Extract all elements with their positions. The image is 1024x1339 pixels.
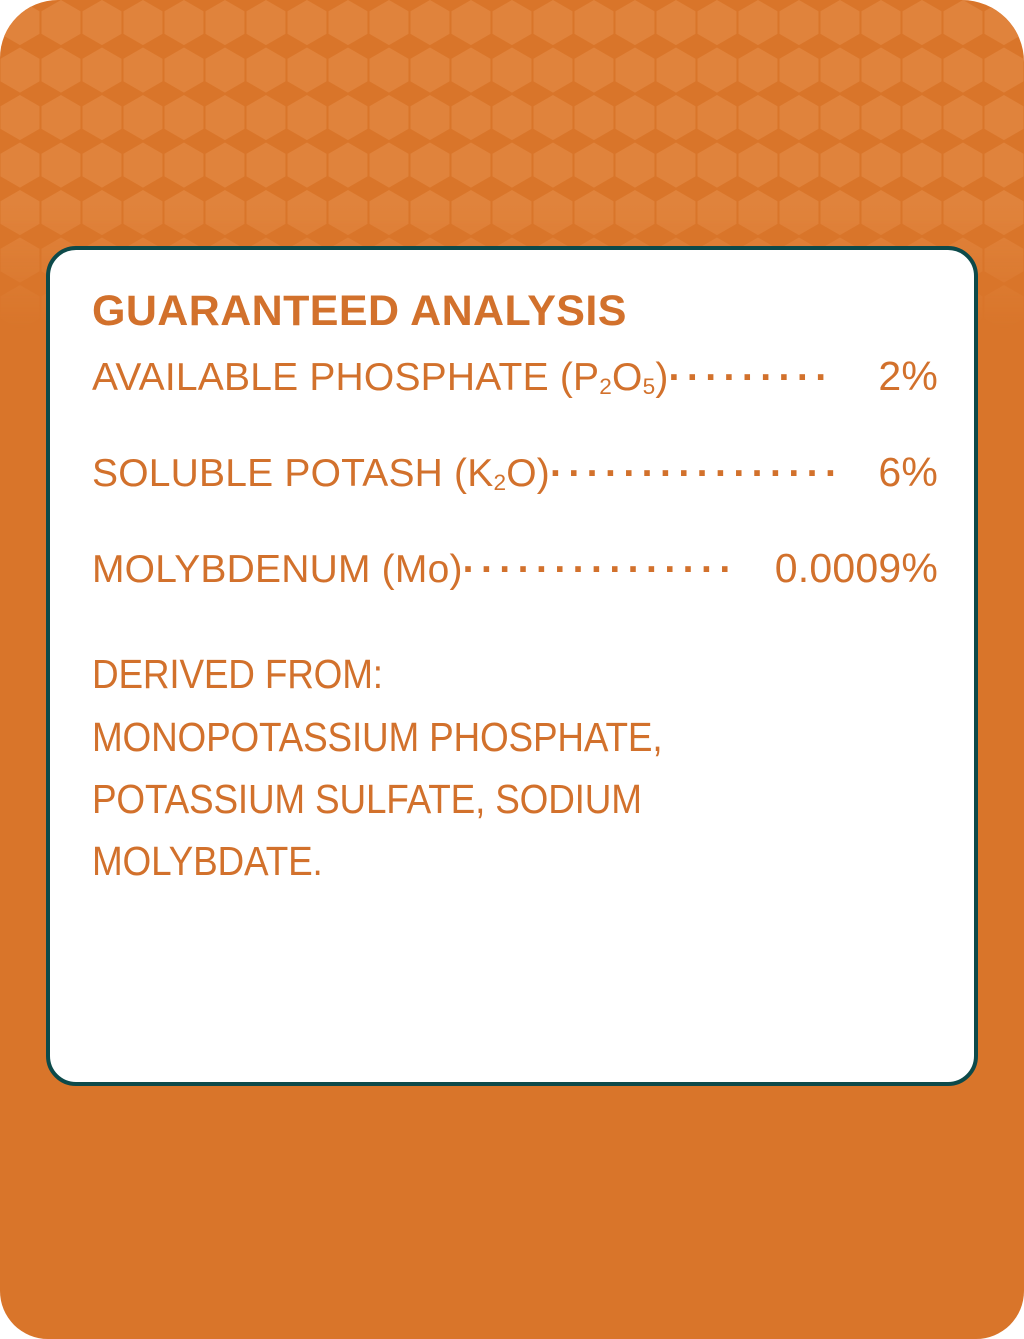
- analysis-nutrient-name: SOLUBLE POTASH (K2O): [92, 452, 550, 496]
- nutrient-subscript-1: 2: [493, 470, 506, 495]
- derived-from-line: MOLYBDATE.: [92, 830, 941, 892]
- nutrient-name-mid: O: [506, 452, 537, 495]
- nutrient-name-suffix: ): [449, 548, 462, 591]
- nutrient-subscript-2: 5: [643, 374, 656, 399]
- nutrient-subscript-1: 2: [599, 374, 612, 399]
- nutrient-name-prefix: AVAILABLE PHOSPHATE (P: [92, 356, 599, 399]
- nutrient-name-mid: o: [428, 548, 450, 591]
- dot-leader: ...............: [463, 543, 763, 582]
- guaranteed-analysis-card: GUARANTEED ANALYSIS AVAILABLE PHOSPHATE …: [46, 246, 978, 1086]
- analysis-value: 2%: [872, 353, 938, 400]
- nutrient-name-prefix: MOLYBDENUM (M: [92, 548, 428, 591]
- analysis-list: AVAILABLE PHOSPHATE (P2O5) ......... 2% …: [88, 351, 938, 629]
- derived-from-heading: DERIVED FROM:: [92, 643, 941, 705]
- analysis-value: 6%: [872, 449, 938, 496]
- derived-from-block: DERIVED FROM: MONOPOTASSIUM PHOSPHATE, P…: [92, 643, 941, 892]
- analysis-row-phosphate: AVAILABLE PHOSPHATE (P2O5) ......... 2%: [92, 351, 938, 437]
- product-label-panel: GUARANTEED ANALYSIS AVAILABLE PHOSPHATE …: [0, 0, 1024, 1339]
- derived-from-line: MONOPOTASSIUM PHOSPHATE,: [92, 706, 941, 768]
- derived-from-line: POTASSIUM SULFATE, SODIUM: [92, 768, 941, 830]
- analysis-row-potash: SOLUBLE POTASH (K2O) ................ 6%: [92, 447, 938, 533]
- nutrient-name-suffix: ): [537, 452, 550, 495]
- analysis-nutrient-name: MOLYBDENUM (Mo): [92, 548, 463, 592]
- dot-leader: .........: [669, 351, 867, 390]
- dot-leader-dots: .........: [669, 351, 834, 389]
- analysis-nutrient-name: AVAILABLE PHOSPHATE (P2O5): [92, 356, 669, 400]
- dot-leader: ................: [550, 447, 866, 486]
- nutrient-name-mid: O: [612, 356, 643, 399]
- dot-leader-dots: ................: [550, 447, 843, 485]
- nutrient-name-suffix: ): [655, 356, 668, 399]
- analysis-value: 0.0009%: [769, 545, 938, 592]
- analysis-row-molybdenum: MOLYBDENUM (Mo) ............... 0.0009%: [92, 543, 938, 629]
- page-title: GUARANTEED ANALYSIS: [92, 288, 938, 335]
- nutrient-name-prefix: SOLUBLE POTASH (K: [92, 452, 493, 495]
- dot-leader-dots: ...............: [463, 543, 738, 581]
